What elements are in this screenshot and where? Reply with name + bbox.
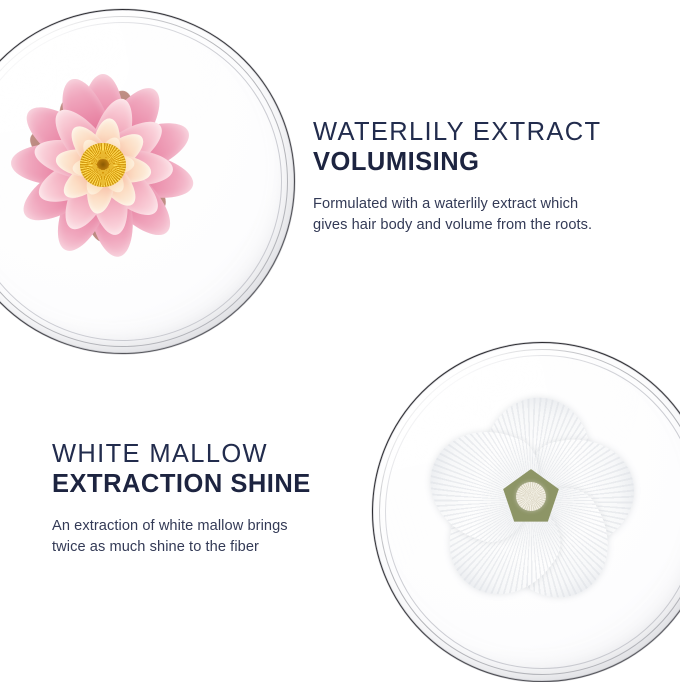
- mallow-description-line: An extraction of white mallow brings: [52, 516, 352, 538]
- mallow-headline: EXTRACTION SHINE: [52, 470, 352, 499]
- mallow-stamen-cluster: [516, 482, 546, 511]
- waterlily-headline: VOLUMISING: [313, 148, 653, 177]
- white-mallow-flower-image: [406, 372, 656, 622]
- mallow-kicker: WHITE MALLOW: [52, 440, 352, 469]
- waterlily-description: Formulated with a waterlily extract whic…: [313, 194, 653, 237]
- mallow-description-line: twice as much shine to the fiber: [52, 537, 352, 559]
- waterlily-stamen-center: [80, 143, 126, 187]
- mallow-text-block: WHITE MALLOW EXTRACTION SHINE An extract…: [52, 440, 352, 559]
- waterlily-description-line: gives hair body and volume from the root…: [313, 215, 653, 237]
- waterlily-description-line: Formulated with a waterlily extract whic…: [313, 194, 653, 216]
- waterlily-petal-stack: [0, 48, 228, 283]
- waterlily-kicker: WATERLILY EXTRACT: [313, 118, 653, 147]
- ingredient-benefits-panel: WATERLILY EXTRACT VOLUMISING Formulated …: [0, 0, 680, 680]
- waterlily-text-block: WATERLILY EXTRACT VOLUMISING Formulated …: [313, 118, 653, 237]
- waterlily-flower-image: [0, 48, 228, 283]
- mallow-description: An extraction of white mallow brings twi…: [52, 516, 352, 559]
